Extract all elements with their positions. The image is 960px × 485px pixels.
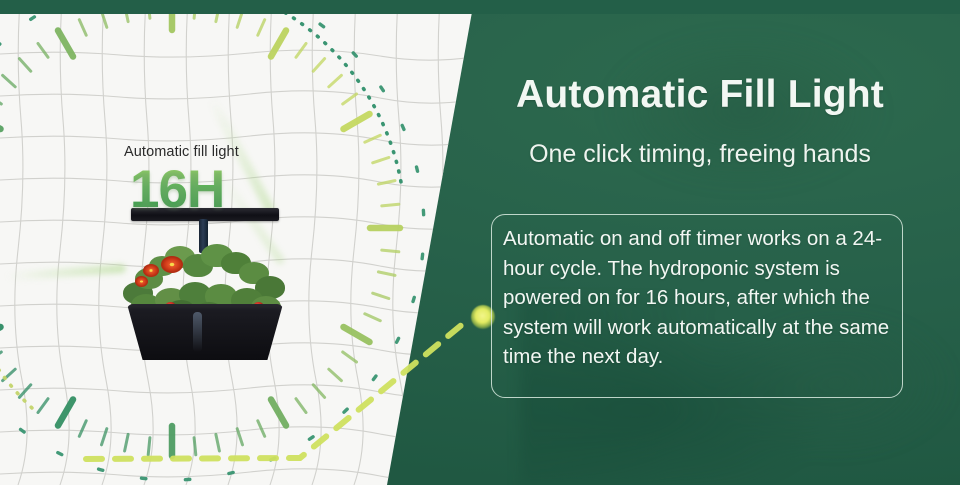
- planter-basin: [127, 304, 283, 360]
- dial-caption: Automatic fill light: [124, 144, 239, 160]
- flower: [161, 256, 183, 273]
- page-title: Automatic Fill Light: [480, 73, 920, 117]
- top-accent-band: [0, 0, 960, 14]
- promo-banner: Automatic fill light 16H Automatic Fill …: [0, 0, 960, 485]
- description-text: Automatic on and off timer works on a 24…: [503, 224, 897, 372]
- dial-duration-value: 16H: [130, 163, 224, 216]
- flower: [135, 276, 148, 287]
- page-subtitle: One click timing, freeing hands: [480, 140, 920, 169]
- hydroponic-planter-image: [113, 208, 296, 360]
- planter-reflection: [193, 312, 202, 352]
- flower: [143, 264, 159, 277]
